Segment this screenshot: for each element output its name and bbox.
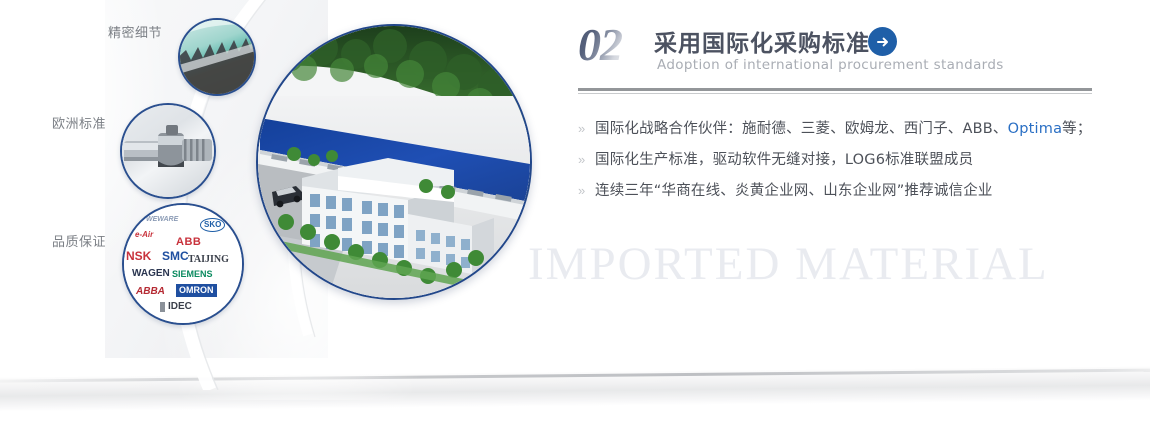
- brand-logo-wagen: WAGEN: [132, 269, 170, 279]
- divider-thin: [578, 93, 1092, 94]
- factory-aerial-photo: [256, 24, 532, 300]
- label-european-standard: 欧洲标准: [52, 113, 106, 132]
- list-item-text: 连续三年“华商在线、炎黄企业网、山东企业网”推荐诚信企业: [595, 179, 993, 200]
- label-precision-detail: 精密细节: [108, 22, 162, 41]
- list-item: » 连续三年“华商在线、炎黄企业网、山东企业网”推荐诚信企业: [578, 179, 1098, 210]
- ballscrew-icon: [122, 105, 214, 197]
- divider-thick: [578, 88, 1092, 91]
- quality-brands-photo: WEWARE SKO e-Air ABB NSK SMC TAIJING WAG…: [122, 203, 244, 325]
- bullet-marker-icon: »: [578, 122, 595, 135]
- brand-logo-smc: SMC: [162, 250, 189, 262]
- list-item: » 国际化战略合作伙伴：施耐德、三菱、欧姆龙、西门子、ABB、Optima等；: [578, 117, 1098, 148]
- list-item-text-before: 国际化战略合作伙伴：施耐德、三菱、欧姆龙、西门子、ABB、: [595, 121, 1008, 137]
- brand-logo-eair: e-Air: [135, 231, 153, 239]
- content-column: 02 采用国际化采购标准 Adoption of international p…: [578, 20, 1098, 82]
- brand-logo-cloud: WEWARE SKO e-Air ABB NSK SMC TAIJING WAG…: [124, 205, 242, 323]
- brand-logo-omron: OMRON: [176, 284, 217, 297]
- brand-logo-sko: SKO: [200, 218, 225, 232]
- list-item: » 国际化生产标准，驱动软件无缝对接，LOG6标准联盟成员: [578, 148, 1098, 179]
- watermark-text: IMPORTED MATERIAL: [528, 237, 1049, 291]
- brand-logo-weware: WEWARE: [146, 216, 178, 223]
- page-subtitle: Adoption of international procurement st…: [657, 57, 1004, 73]
- bullet-marker-icon: »: [578, 184, 595, 197]
- promo-banner: 精密细节 欧洲标准 品质保证: [0, 0, 1150, 430]
- section-number: 02: [578, 22, 622, 68]
- brand-logo-abba: ABBA: [136, 287, 165, 297]
- brand-logo-siemens: SIEMENS: [172, 270, 213, 279]
- precision-detail-photo: [178, 18, 256, 96]
- list-item-text-after: 等；: [1062, 121, 1091, 137]
- arrow-right-icon[interactable]: [868, 27, 897, 56]
- brand-logo-abb: ABB: [176, 237, 201, 248]
- brand-logo-idec: IDEC: [160, 302, 192, 312]
- list-item-text: 国际化生产标准，驱动软件无缝对接，LOG6标准联盟成员: [595, 148, 973, 169]
- feature-list: » 国际化战略合作伙伴：施耐德、三菱、欧姆龙、西门子、ABB、Optima等； …: [578, 117, 1098, 210]
- bullet-marker-icon: »: [578, 153, 595, 166]
- list-item-highlight: Optima: [1008, 121, 1063, 137]
- brand-logo-nsk: NSK: [126, 250, 151, 262]
- label-quality-assurance: 品质保证: [52, 231, 106, 250]
- factory-illustration: [258, 26, 530, 298]
- brand-logo-taijing: TAIJING: [188, 255, 229, 265]
- section-header: 02 采用国际化采购标准 Adoption of international p…: [578, 20, 1098, 82]
- page-title: 采用国际化采购标准: [654, 24, 870, 58]
- european-standard-photo: [120, 103, 216, 199]
- gear-teeth-icon: [180, 20, 254, 94]
- list-item-text: 国际化战略合作伙伴：施耐德、三菱、欧姆龙、西门子、ABB、Optima等；: [595, 117, 1092, 138]
